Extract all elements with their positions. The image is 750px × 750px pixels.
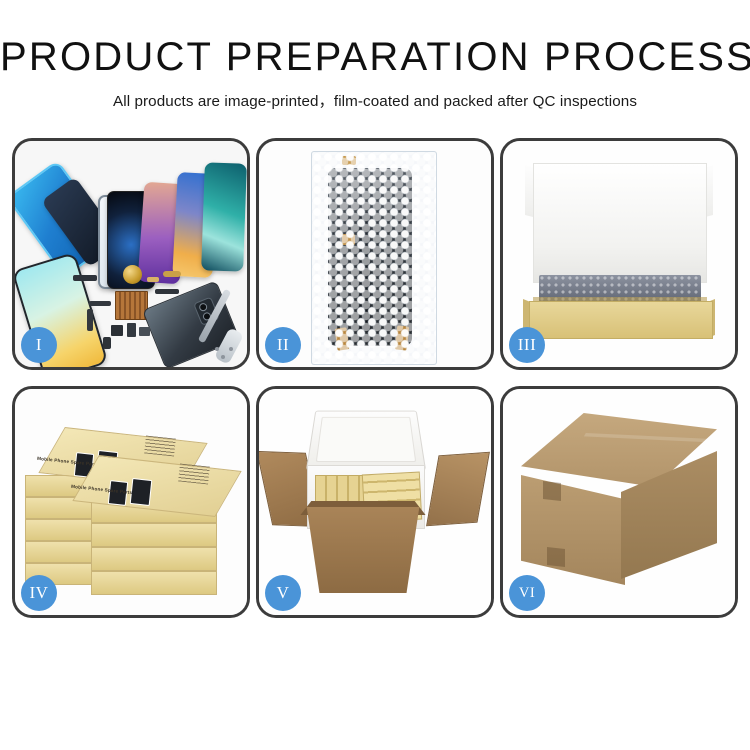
box-stack-icon: Mobile Phone Spare Parts Mobile Phone Sp… bbox=[19, 403, 245, 603]
process-step-5: V bbox=[256, 386, 494, 618]
page-header: PRODUCT PREPARATION PROCESS All products… bbox=[0, 0, 750, 111]
stacked-box bbox=[91, 571, 217, 595]
process-step-3: III bbox=[500, 138, 738, 370]
carton-body-icon bbox=[299, 507, 427, 593]
flex-cable-icon bbox=[155, 289, 179, 294]
stacked-box bbox=[91, 523, 217, 547]
step-badge-2: II bbox=[265, 327, 301, 363]
bubble-texture bbox=[312, 152, 436, 364]
carton-handle-tab bbox=[547, 547, 565, 567]
step-badge-1: I bbox=[21, 327, 57, 363]
flex-cable-icon bbox=[87, 309, 93, 331]
process-step-1: I bbox=[12, 138, 250, 370]
process-step-4: Mobile Phone Spare Parts Mobile Phone Sp… bbox=[12, 386, 250, 618]
kraft-box-front-icon bbox=[529, 301, 713, 339]
carton-flap-icon bbox=[426, 452, 490, 527]
screw-icon bbox=[221, 355, 225, 359]
gold-connector-icon bbox=[163, 271, 181, 277]
step-badge-5: V bbox=[265, 575, 301, 611]
gold-connector-icon bbox=[147, 277, 159, 282]
carton-handle-tab bbox=[543, 481, 561, 501]
vibration-coil-icon bbox=[123, 265, 142, 284]
flex-cable-icon bbox=[89, 301, 111, 306]
screw-icon bbox=[215, 347, 219, 351]
box-print-lines bbox=[144, 435, 176, 456]
process-step-2: II bbox=[256, 138, 494, 370]
white-foam-sheet-icon bbox=[533, 163, 707, 283]
bubble-wrap-bag-icon bbox=[311, 151, 437, 365]
chip-icon bbox=[139, 327, 150, 336]
process-grid: I II bbox=[12, 138, 738, 618]
step-badge-3: III bbox=[509, 327, 545, 363]
box-print-phone bbox=[130, 478, 153, 506]
product-preparation-page: PRODUCT PREPARATION PROCESS All products… bbox=[0, 0, 750, 750]
styrofoam-lid-inset bbox=[316, 417, 416, 462]
chip-icon bbox=[127, 323, 136, 337]
speaker-bar-icon bbox=[73, 275, 97, 281]
stacked-box bbox=[91, 547, 217, 571]
copper-board-icon bbox=[115, 291, 148, 320]
carton-front-face bbox=[521, 475, 625, 585]
box-print-lines bbox=[178, 463, 210, 484]
screw-icon bbox=[229, 347, 233, 351]
process-step-6: VI bbox=[500, 386, 738, 618]
page-title: PRODUCT PREPARATION PROCESS bbox=[0, 36, 750, 78]
teal-phone-icon bbox=[201, 162, 247, 271]
chip-icon bbox=[111, 325, 123, 336]
step-badge-4: IV bbox=[21, 575, 57, 611]
camera-lens-icon bbox=[198, 302, 208, 312]
step-badge-6: VI bbox=[509, 575, 545, 611]
styrofoam-lid-icon bbox=[306, 411, 426, 471]
page-subtitle: All products are image-printed，film-coat… bbox=[0, 89, 750, 111]
chip-icon bbox=[103, 337, 111, 349]
